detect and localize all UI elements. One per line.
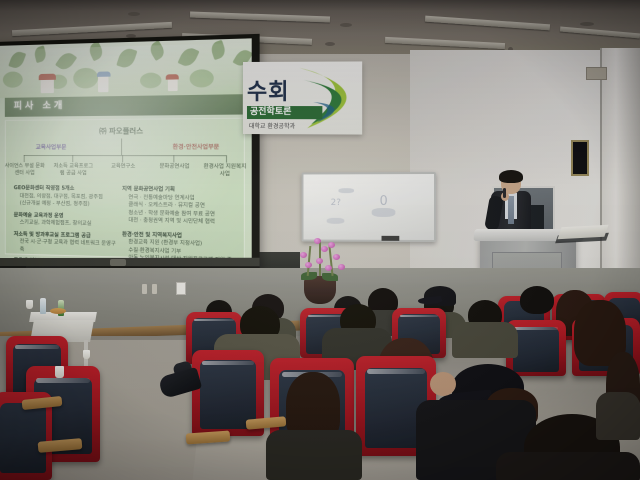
orchid-bloom (316, 258, 323, 264)
snack-plate (50, 308, 66, 314)
bush-shape (190, 69, 214, 87)
baseball-cap (424, 286, 456, 306)
plant-leaf (322, 273, 338, 281)
org-dept-right-label: 환경·안전사업부문 (173, 142, 220, 151)
banner-footnote: 대학교 환경공학과 (249, 121, 295, 130)
ceiling-fitting (580, 22, 594, 26)
leaf-icon (116, 46, 137, 69)
house-shape (98, 76, 108, 93)
orchid-bloom (333, 254, 340, 260)
leaf-icon (55, 50, 77, 73)
orchid-bloom (314, 238, 321, 244)
slide-bullet: 문화예술 교육과정 운영 스키교실, 과학체험캠프, 창의교실 (14, 212, 120, 229)
audience-shoulders (452, 322, 518, 358)
house-roof (39, 74, 56, 80)
projection-screen-frame: 피사 소개 ㈜ 파오플러스 교육사업부문 환경·안전사업부문 사이언스 부설 문… (0, 34, 260, 272)
presenter-tie (508, 196, 514, 224)
slide-subbullet: 스키교실, 과학체험캠프, 창의교실 (14, 219, 120, 229)
leaf-icon (177, 45, 199, 68)
leaf-icon (33, 45, 47, 63)
seat-highlight (36, 378, 89, 383)
presenter-hair (499, 170, 523, 183)
org-connector (24, 155, 25, 162)
audience-shoulders (496, 452, 640, 480)
ceiling-fitting (325, 42, 335, 46)
orchid-bloom (305, 262, 312, 268)
projection-screen: 피사 소개 ㈜ 파오플러스 교육사업부문 환경·안전사업부문 사이언스 부설 문… (0, 38, 252, 265)
wall-outlet-icon (176, 282, 186, 295)
paper-cup (55, 366, 64, 378)
orchid-plant (292, 232, 348, 304)
audience-shoulders (266, 430, 362, 480)
whiteboard-smudge (372, 208, 396, 217)
audience-shoulders (596, 392, 640, 440)
slide-subbullet: 대전 · 충청권역 지역 및 시민단체 협력 (122, 217, 235, 227)
ceiling-light-fixture (12, 22, 172, 36)
ceiling-light-fixture (385, 37, 505, 49)
slide-left-column: GEO문화센터 직영점 5개소 대전점, 의왕점, 대구점, 목포점, 광주점 … (14, 185, 120, 265)
ceiling-light-fixture (425, 16, 550, 31)
orchid-bloom (338, 264, 345, 270)
slide-bullet-text: 저소득 및 방과후교실 프로그램 공급 (14, 231, 91, 239)
orchid-bloom (300, 252, 307, 258)
org-node: 문화공연사업 (152, 163, 197, 171)
seat-highlight (367, 369, 425, 374)
slide-right-column: 지역 문화공연사업 기획 연극 · 전통예술마당 연계사업 클래식 · 오케스트… (122, 186, 235, 265)
slide-bullet-text: 문화예술 교육과정 운영 (14, 212, 64, 219)
floor-pipe (152, 284, 157, 294)
water-bottle (40, 298, 46, 314)
plant-leaf (301, 272, 317, 280)
seat-cushion (513, 327, 560, 372)
house-shape (41, 79, 54, 93)
paper-cup (83, 350, 90, 359)
ceiling-light-fixture (190, 12, 330, 23)
slide-bullet: 저소득 및 방과후교실 프로그램 공급 전국 시·군·구청 교육과 협력 네트워… (14, 231, 120, 257)
orchid-bloom (325, 265, 332, 271)
leaf-icon (8, 50, 26, 70)
org-connector (122, 155, 123, 162)
seat-highlight (194, 319, 234, 322)
plant-stem (328, 246, 333, 276)
screen-pull-handle (110, 259, 126, 266)
slide-bullet-text: GEO문화센터 직영점 5개소 (14, 185, 75, 192)
microphone-icon (503, 188, 506, 198)
banner-subtitle: 공전학토론 (247, 106, 322, 119)
floor-pipe (142, 284, 147, 294)
org-dept-left-label: 교육사업부문 (36, 143, 67, 151)
org-node: 교육연구소 (101, 163, 145, 170)
orchid-bloom (321, 246, 328, 252)
banner-swoosh-logo (297, 63, 364, 132)
org-node: 저소득 교육프로그램 공급 사업 (52, 163, 95, 178)
whiteboard-mark: 2? (331, 198, 341, 208)
slide-subbullet: 전국 시·군·구청 교육과 협력 네트워크 운영구축 (14, 238, 120, 256)
house-roof (97, 71, 111, 76)
slide-bullet: 지역 문화공연사업 기획 연극 · 전통예술마당 연계사업 클래식 · 오케스트… (122, 186, 235, 227)
wall-speaker-icon (571, 140, 589, 176)
wall-banner: 수회 공전학토론 대학교 환경공학과 (243, 61, 362, 134)
audience-head (430, 372, 456, 396)
slide-body: ㈜ 파오플러스 교육사업부문 환경·안전사업부문 사이언스 부설 문화센터 사업… (5, 118, 245, 261)
banner-title: 수회 (247, 82, 290, 104)
seat-cushion (0, 403, 45, 473)
whiteboard-smudge (327, 218, 345, 224)
whiteboard-smudge (338, 188, 354, 193)
leaf-icon (209, 40, 227, 60)
org-connector (226, 155, 227, 162)
slide-subbullet: (신규개설 예정 - 부산점, 청주점) (14, 200, 120, 209)
orchid-bloom (328, 242, 335, 248)
wall-vent (586, 67, 607, 80)
bush-shape (73, 68, 98, 89)
org-connector (173, 155, 174, 162)
lecture-hall-photo: 피사 소개 ㈜ 파오플러스 교육사업부문 환경·안전사업부문 사이언스 부설 문… (0, 0, 640, 480)
org-root-label: ㈜ 파오플러스 (6, 125, 244, 137)
org-connector (24, 155, 226, 156)
seat-highlight (400, 315, 439, 318)
whiteboard-marker-tray (382, 236, 400, 241)
audience-head (520, 286, 554, 314)
whiteboard-mark: 0 (380, 194, 388, 209)
house-roof (166, 74, 179, 80)
org-connector (121, 139, 122, 156)
leaf-icon (87, 41, 105, 61)
seat-highlight (15, 345, 60, 349)
leaf-icon (147, 40, 167, 61)
slide-bullet-text: 지역 문화공연사업 기획 (122, 186, 175, 193)
bush-shape (140, 72, 161, 88)
ceiling-fitting (128, 12, 140, 16)
slide-bullet: GEO문화센터 직영점 5개소 대전점, 의왕점, 대구점, 목포점, 광주점 … (14, 185, 120, 209)
slide-title-text: 피사 소개 (5, 94, 243, 117)
slide-bullet-text: 환경·안전 및 지역복지사업 (122, 231, 182, 239)
paper-cup (26, 300, 33, 309)
slide-title-bar: 피사 소개 (5, 94, 243, 117)
org-node: 사이언스 부설 문화센터 사업 (4, 163, 46, 177)
ceiling-fitting (340, 23, 352, 27)
slide-header-image (0, 38, 252, 98)
screen-bottom-bar (0, 258, 260, 267)
ceiling-light-fixture (560, 27, 640, 39)
house-shape (168, 78, 178, 91)
bush-shape (3, 71, 23, 87)
org-connector (72, 155, 73, 162)
seat-highlight (514, 327, 557, 330)
seat-highlight (202, 361, 254, 365)
org-node: 환경사업 지원복지 사업 (202, 164, 249, 179)
